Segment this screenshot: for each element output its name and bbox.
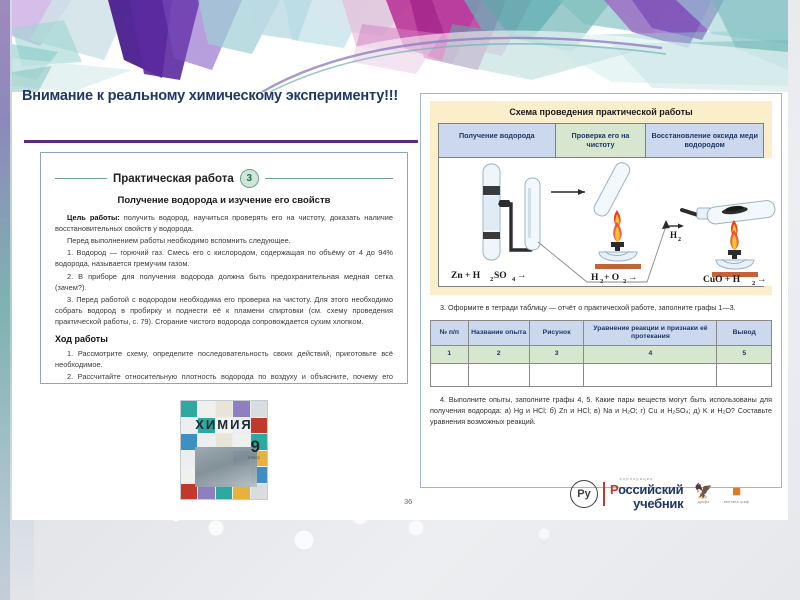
table-cell-blank (468, 363, 529, 386)
instruction-3: 3. Оформите в тетради таблицу — отчёт о … (430, 303, 772, 314)
report-table: № п/п Название опыта Рисунок Уравнение р… (430, 320, 772, 387)
procedure-item-2: 2. Рассчитайте относительную плотность в… (55, 371, 393, 384)
title-underline-rule (24, 140, 418, 143)
table-col-header-4: Уравнение реакции и признаки её протекан… (584, 320, 717, 346)
goal-label: Цель работы: (67, 213, 120, 222)
cover-tile (198, 401, 214, 417)
cover-grade-caption: класс (248, 455, 260, 460)
page-number: 36 (404, 497, 412, 506)
imprint-drofa-label: дрофа (698, 500, 710, 504)
publisher-line-1: Российский (610, 483, 683, 496)
table-col-number-1: 1 (431, 346, 469, 363)
table-cell-blank (529, 363, 584, 386)
svg-text:2: 2 (600, 278, 603, 285)
svg-text:SO: SO (494, 271, 507, 281)
imprint-ventana-label: вентана граф (724, 500, 749, 504)
note-paragraph-1: 1. Водород — горючий газ. Смесь его с ки… (55, 247, 393, 269)
table-col-header-5: Вывод (717, 320, 772, 346)
background-left-accent-strip (0, 0, 10, 600)
publisher-logo: Ру корпорация Российский учебник 🦅 дрофа… (570, 477, 788, 511)
note-paragraph-2: 2. В приборе для получения водорода долж… (55, 271, 393, 293)
presentation-slide: Внимание к реальному химическому экспери… (0, 0, 800, 600)
practical-work-label: Практическая работа (113, 173, 234, 185)
scheme-column-headers: Получение водорода Проверка его на чисто… (439, 124, 763, 158)
publisher-wordmark: корпорация Российский учебник (610, 478, 683, 510)
scheme-table: Получение водорода Проверка его на чисто… (438, 123, 764, 287)
scheme-column-1-header: Получение водорода (439, 124, 556, 157)
cover-tile (216, 401, 232, 417)
svg-text:→: → (757, 275, 767, 285)
svg-text:H: H (670, 230, 677, 240)
table-cell-blank (584, 363, 717, 386)
table-number-row: 1 2 3 4 5 (431, 346, 772, 363)
svg-text:2: 2 (623, 278, 626, 285)
instruction-4: 4. Выполните опыты, заполните графы 4, 5… (430, 395, 772, 427)
svg-text:→: → (628, 273, 638, 283)
imprint-drofa: 🦅 дрофа (694, 484, 713, 504)
publisher-monogram-icon: Ру (570, 480, 598, 508)
cover-tile (233, 401, 249, 417)
svg-text:→: → (517, 271, 527, 281)
right-textbook-page: Схема проведения практической работы Пол… (420, 93, 782, 488)
header-polygon-artwork (12, 0, 788, 92)
cover-tile (181, 401, 197, 417)
publisher-line-2: учебник (610, 497, 683, 510)
practical-work-number-badge: 3 (240, 169, 259, 188)
svg-text:CuO + H: CuO + H (703, 275, 741, 285)
note-paragraph-3: 3. Перед работой с водородом необходима … (55, 294, 393, 327)
table-col-number-2: 2 (468, 346, 529, 363)
drofa-bird-icon: 🦅 (694, 484, 713, 499)
scheme-column-2-header: Проверка его на чистоту (556, 124, 647, 157)
cover-tile (251, 401, 267, 417)
cover-grade-number: 9 (251, 437, 260, 457)
slide-card: Внимание к реальному химическому экспери… (12, 0, 788, 520)
table-col-header-1: № п/п (431, 320, 469, 346)
scheme-column-3-header: Восстановление оксида меди водородом (646, 124, 763, 157)
table-header-row: № п/п Название опыта Рисунок Уравнение р… (431, 320, 772, 346)
table-col-number-4: 4 (584, 346, 717, 363)
procedure-item-1: 1. Рассмотрите схему, определите последо… (55, 348, 393, 370)
header-rule-left (55, 178, 107, 179)
textbook-cover-image: ХИМИЯ 9 класс (180, 400, 268, 500)
left-textbook-page: Практическая работа 3 Получение водорода… (40, 152, 408, 384)
scheme-title: Схема проведения практической работы (438, 107, 764, 117)
table-col-header-3: Рисунок (529, 320, 584, 346)
table-col-number-5: 5 (717, 346, 772, 363)
table-col-number-3: 3 (529, 346, 584, 363)
svg-text:+ O: + O (604, 273, 619, 283)
imprint-ventana-graf: ■ вентана граф (724, 484, 749, 504)
svg-text:Zn + H: Zn + H (451, 271, 481, 281)
procedure-heading: Ход работы (55, 334, 393, 344)
intro-paragraph: Перед выполнением работы необходимо вспо… (55, 235, 393, 246)
table-blank-row (431, 363, 772, 386)
publisher-line-1-initial: Р (610, 482, 618, 497)
svg-text:2: 2 (752, 280, 755, 286)
table-cell-blank (717, 363, 772, 386)
svg-text:2: 2 (490, 276, 493, 283)
svg-text:2: 2 (678, 237, 681, 243)
svg-text:H: H (591, 273, 599, 283)
cover-title: ХИМИЯ (187, 417, 261, 432)
slide-title: Внимание к реальному химическому экспери… (22, 88, 422, 104)
logo-divider-bar (603, 482, 605, 506)
scheme-apparatus-diagram: Zn + H 2 SO 4 → (439, 158, 763, 286)
scheme-panel: Схема проведения практической работы Пол… (430, 101, 772, 295)
publisher-line-1-rest: оссийский (618, 482, 683, 497)
header-rule-right (265, 178, 393, 179)
goal-paragraph: Цель работы: получить водород, научиться… (55, 212, 393, 234)
ventana-graf-icon: ■ (732, 484, 741, 499)
cover-photo (195, 447, 257, 487)
table-cell-blank (431, 363, 469, 386)
table-col-header-2: Название опыта (468, 320, 529, 346)
practical-work-subtitle: Получение водорода и изучение его свойст… (55, 195, 393, 206)
practical-work-header: Практическая работа 3 (55, 169, 393, 188)
